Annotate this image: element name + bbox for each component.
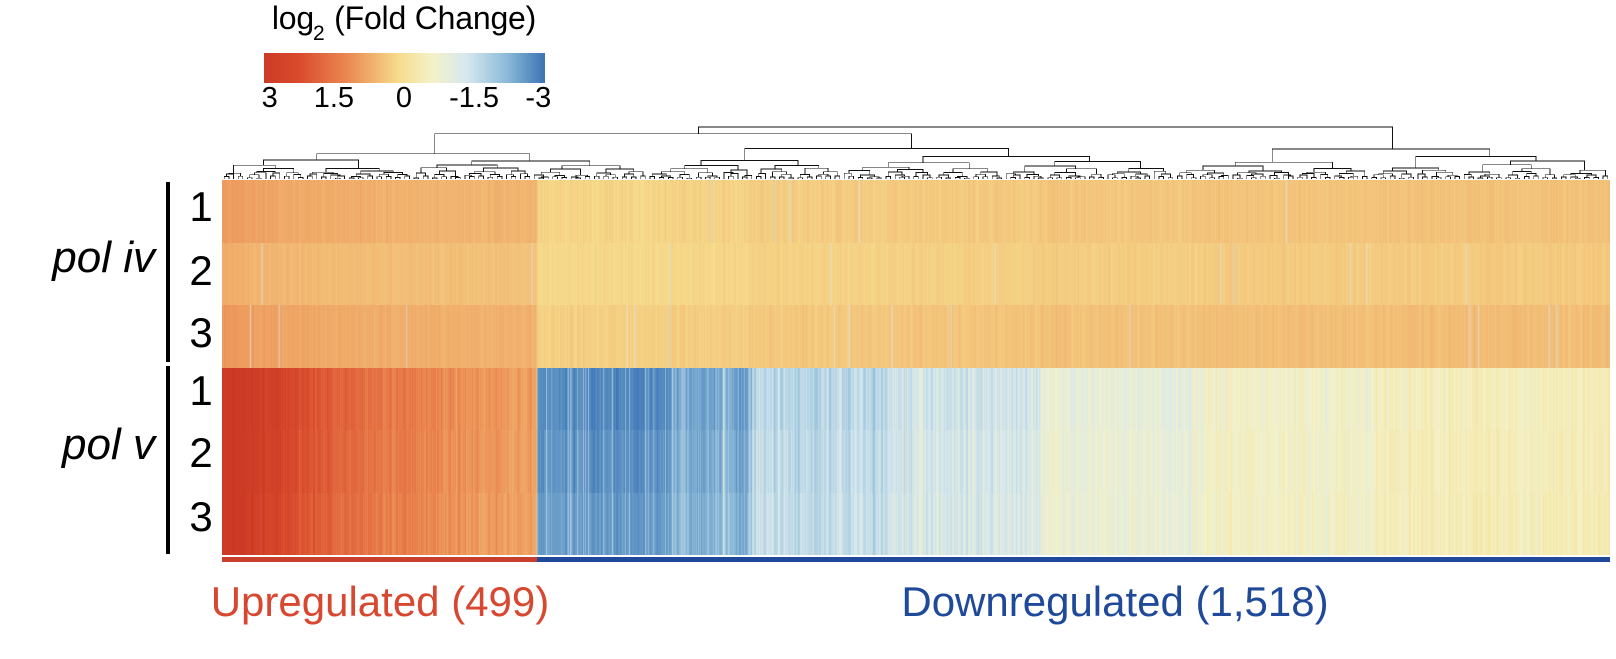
colorbar-title-prefix: log — [272, 0, 314, 36]
heatmap-figure: log2 (Fold Change) 31.50-1.5-3 pol iv po… — [0, 0, 1616, 659]
heatmap-row-pol-iv-3 — [222, 305, 1610, 368]
colorbar-title-subscript: 2 — [313, 22, 324, 45]
replicate-label-pol-iv-2: 2 — [184, 250, 218, 292]
colorbar-tick-2: 0 — [396, 84, 412, 113]
category-bar-downregulated — [537, 557, 1610, 562]
heatmap-row-canvas — [222, 430, 1610, 493]
colorbar-title: log2 (Fold Change) — [258, 2, 550, 41]
colorbar-tick-4: -3 — [525, 84, 551, 113]
heatmap-row-canvas — [222, 368, 1610, 431]
heatmap-row-canvas — [222, 493, 1610, 556]
group-bracket-pol-v — [166, 366, 170, 554]
replicate-label-pol-iv-3: 3 — [184, 312, 218, 354]
colorbar-title-suffix: (Fold Change) — [325, 0, 536, 36]
group-label-pol-iv: pol iv — [0, 233, 155, 283]
replicate-label-pol-v-3: 3 — [184, 496, 218, 538]
column-dendrogram — [222, 126, 1610, 180]
category-label-upregulated: Upregulated (499) — [170, 578, 590, 626]
replicate-label-pol-v-1: 1 — [184, 370, 218, 412]
heatmap-row-pol-v-1 — [222, 368, 1610, 431]
heatmap-row-pol-iv-1 — [222, 180, 1610, 243]
heatmap-row-canvas — [222, 180, 1610, 243]
colorbar-tick-0: 3 — [262, 84, 278, 113]
heatmap-grid — [222, 180, 1610, 555]
replicate-label-pol-iv-1: 1 — [184, 186, 218, 228]
heatmap-row-pol-v-2 — [222, 430, 1610, 493]
colorbar-tick-labels: 31.50-1.5-3 — [258, 84, 550, 114]
dendrogram-svg — [222, 126, 1610, 180]
colorbar-gradient — [264, 53, 545, 83]
group-label-pol-v: pol v — [0, 420, 155, 470]
dendrogram-path — [224, 127, 1607, 179]
colorbar-tick-1: 1.5 — [314, 84, 354, 113]
heatmap-row-canvas — [222, 243, 1610, 306]
replicate-label-pol-v-2: 2 — [184, 432, 218, 474]
group-bracket-pol-iv — [166, 182, 170, 362]
category-bar-upregulated — [222, 557, 537, 562]
colorbar-tick-3: -1.5 — [449, 84, 499, 113]
heatmap-row-pol-iv-2 — [222, 243, 1610, 306]
category-label-downregulated: Downregulated (1,518) — [855, 578, 1375, 626]
heatmap-row-pol-v-3 — [222, 493, 1610, 556]
heatmap-row-canvas — [222, 305, 1610, 368]
colorbar-legend: log2 (Fold Change) 31.50-1.5-3 — [258, 2, 550, 41]
